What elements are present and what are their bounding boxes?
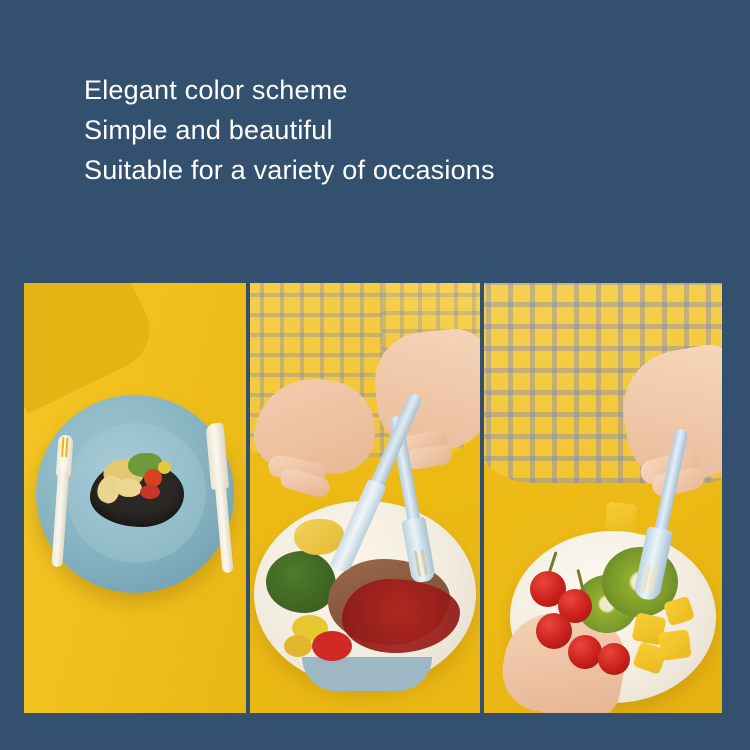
yellow-pepper-ring [284,635,312,657]
fork-tine [649,566,658,594]
cherry [598,643,630,675]
photo-cutting-steak [250,283,480,713]
photo-strip [0,283,750,713]
plate-base [302,657,432,691]
photo-blue-plate [24,283,246,713]
fork-tine [421,549,428,575]
cherry [536,613,572,649]
headline-line-2: Simple and beautiful [84,110,684,150]
tomato-slice [140,485,160,499]
broccoli-floret [266,551,336,613]
vegetable-garnish [116,479,142,497]
photo-fruit-plate [484,283,722,713]
product-banner: Elegant color scheme Simple and beautifu… [0,0,750,750]
fork-tine [414,551,421,577]
headline-line-1: Elegant color scheme [84,70,684,110]
cherry [568,635,602,669]
headline-line-3: Suitable for a variety of occasions [84,150,684,190]
mango-cube-on-fork [605,502,638,533]
yellow-tomato-slice [158,461,171,474]
headline-block: Elegant color scheme Simple and beautifu… [84,70,684,190]
red-pepper-ring [312,631,352,661]
fork-tine [61,437,64,457]
fork-tine [65,437,68,457]
